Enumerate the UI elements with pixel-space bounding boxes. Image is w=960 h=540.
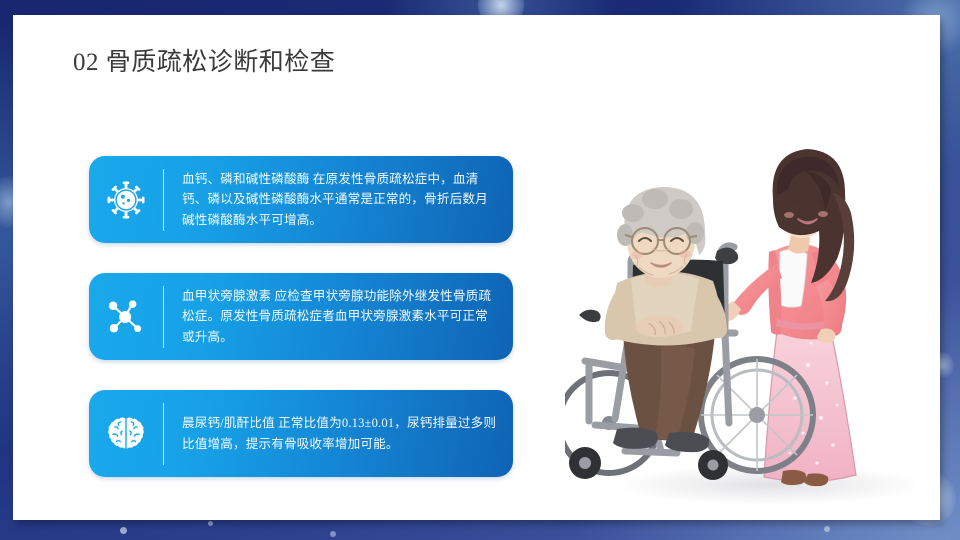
bokeh-circle — [120, 527, 127, 534]
list-item[interactable]: 血钙、磷和碱性磷酸酶 在原发性骨质疏松症中，血清钙、磷以及碱性磷酸酶水平通常是正… — [89, 156, 513, 243]
brain-icon — [89, 390, 163, 477]
page-title: 02 骨质疏松诊断和检查 — [73, 42, 335, 78]
slide: 02 骨质疏松诊断和检查 — [0, 0, 960, 540]
slide-panel: 02 骨质疏松诊断和检查 — [13, 15, 940, 520]
bokeh-circle — [330, 531, 336, 537]
list-item-text: 晨尿钙/肌酐比值 正常比值为0.13±0.01，尿钙排量过多则比值增高，提示有骨… — [164, 413, 513, 454]
list-item-text: 血甲状旁腺激素 应检查甲状旁腺功能除外继发性骨质疏松症。原发性骨质疏松症者血甲状… — [164, 286, 513, 347]
list-item[interactable]: 晨尿钙/肌酐比值 正常比值为0.13±0.01，尿钙排量过多则比值增高，提示有骨… — [89, 390, 513, 477]
virus-cell-icon — [89, 156, 163, 243]
caregiver-wheelchair-illustration — [565, 133, 955, 533]
bokeh-circle — [208, 521, 213, 526]
molecule-icon — [89, 273, 163, 360]
list-item-text: 血钙、磷和碱性磷酸酶 在原发性骨质疏松症中，血清钙、磷以及碱性磷酸酶水平通常是正… — [164, 169, 513, 230]
list-item[interactable]: 血甲状旁腺激素 应检查甲状旁腺功能除外继发性骨质疏松症。原发性骨质疏松症者血甲状… — [89, 273, 513, 360]
card-list: 血钙、磷和碱性磷酸酶 在原发性骨质疏松症中，血清钙、磷以及碱性磷酸酶水平通常是正… — [89, 156, 513, 477]
